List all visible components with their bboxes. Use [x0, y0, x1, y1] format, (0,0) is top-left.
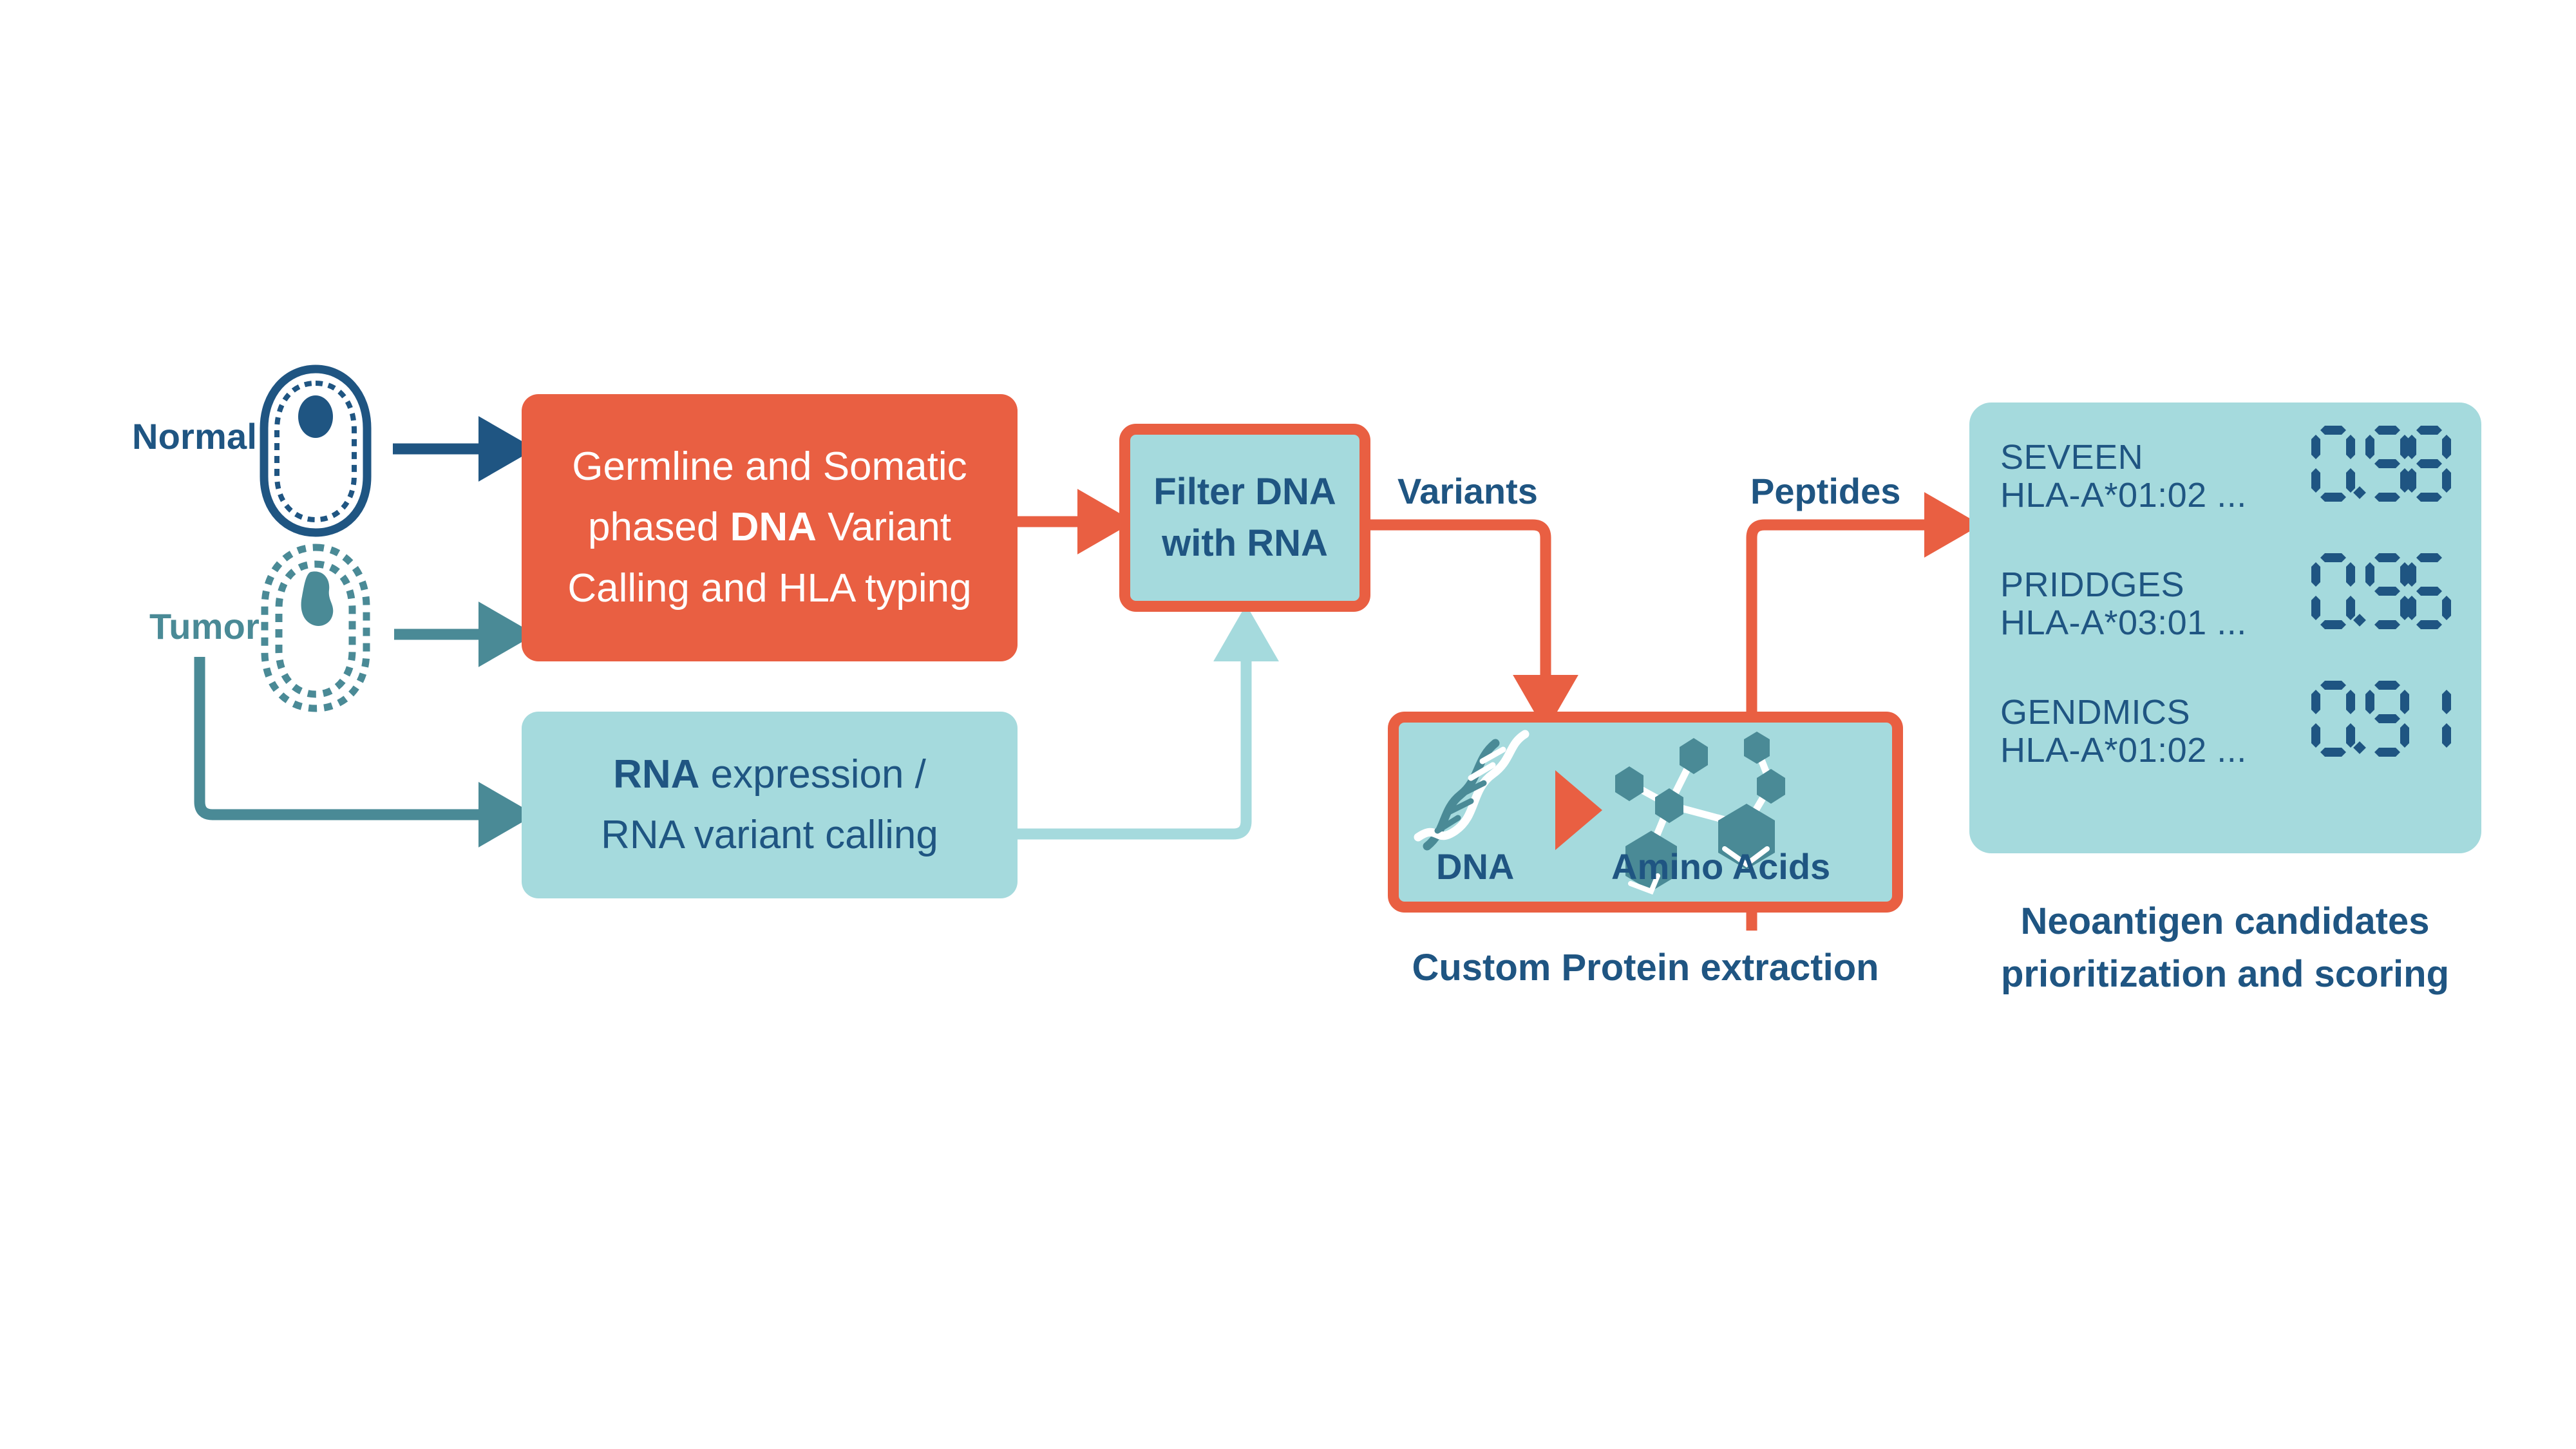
- arrow-variants-to-protein: [1370, 525, 1546, 692]
- variant-box-line1: Germline and Somatic: [572, 444, 967, 489]
- sample-label-normal: Normal: [132, 415, 257, 457]
- rna-expression-box[interactable]: RNA expression / RNA variant calling: [522, 712, 1018, 898]
- sample-label-tumor: Tumor: [149, 605, 260, 647]
- neoantigen-candidates-panel[interactable]: SEVEEN HLA-A*01:02 ... PRIDDGES HLA-A*03…: [1969, 402, 2481, 853]
- custom-protein-extraction-box[interactable]: DNA Amino Acids: [1388, 712, 1903, 913]
- tumor-cell-icon: [254, 541, 377, 715]
- flow-label-peptides: Peptides: [1750, 470, 1900, 512]
- caption-custom-protein-extraction: Custom Protein extraction: [1352, 942, 1938, 994]
- protein-box-dna-label: DNA: [1436, 846, 1514, 887]
- play-triangle-icon: [1555, 770, 1602, 850]
- diagram-canvas: Normal Tumor Germline and Somatic phased…: [0, 0, 2576, 1449]
- filter-box-line2: with RNA: [1162, 522, 1328, 564]
- dna-helix-icon: [1418, 734, 1525, 846]
- caption-neoantigen: Neoantigen candidates prioritization and…: [1945, 895, 2505, 1001]
- rna-box-bold: RNA: [613, 752, 699, 797]
- protein-box-amino-label: Amino Acids: [1611, 846, 1830, 887]
- variant-box-line2-post: Variant: [817, 505, 951, 549]
- neoantigen-row[interactable]: SEVEEN HLA-A*01:02 ...: [2000, 440, 2453, 567]
- neoantigen-score: [2313, 679, 2449, 774]
- rna-box-line1-post: expression /: [699, 752, 926, 797]
- neoantigen-score: [2313, 552, 2449, 647]
- filter-box-line1: Filter DNA: [1153, 471, 1336, 513]
- variant-box-dna-bold: DNA: [730, 505, 817, 549]
- rna-box-line2: RNA variant calling: [601, 813, 938, 857]
- variant-calling-box[interactable]: Germline and Somatic phased DNA Variant …: [522, 394, 1018, 661]
- variant-box-line3: Calling and HLA typing: [567, 566, 971, 611]
- arrow-rna-to-filter: [1018, 644, 1246, 834]
- neoantigen-row[interactable]: PRIDDGES HLA-A*03:01 ...: [2000, 567, 2453, 695]
- neoantigen-row[interactable]: GENDMICS HLA-A*01:02 ...: [2000, 695, 2453, 822]
- filter-dna-with-rna-box[interactable]: Filter DNA with RNA: [1119, 424, 1370, 612]
- caption-neo-line2: prioritization and scoring: [2001, 953, 2449, 995]
- flow-label-variants: Variants: [1397, 470, 1538, 512]
- neoantigen-score: [2313, 424, 2449, 519]
- caption-neo-line1: Neoantigen candidates: [2021, 900, 2430, 942]
- variant-box-line2-pre: phased: [588, 505, 730, 549]
- cell-nucleus-icon: [254, 364, 377, 538]
